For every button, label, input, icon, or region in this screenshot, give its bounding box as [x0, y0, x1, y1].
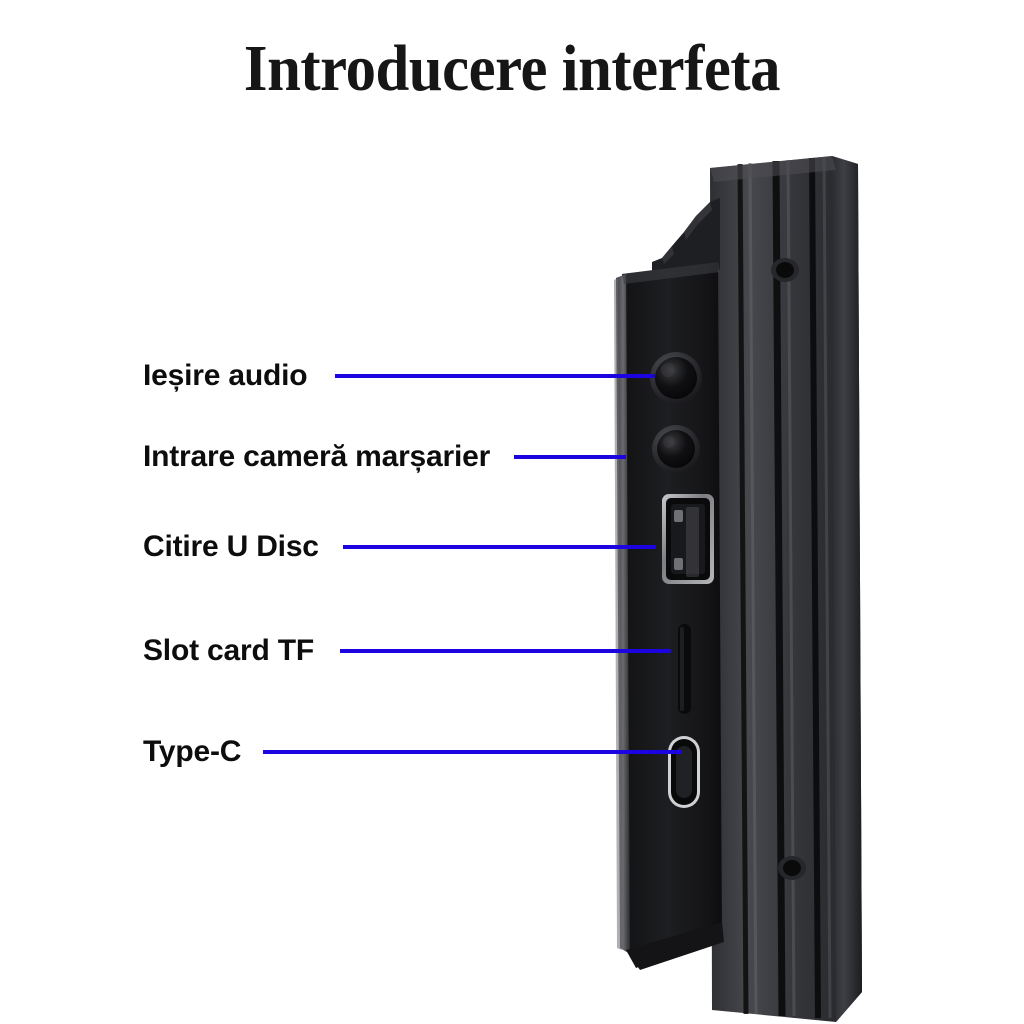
leader-line-tf-card-slot: [340, 649, 671, 653]
leader-line-type-c: [263, 750, 682, 754]
callout-label-tf-card-slot: Slot card TF: [143, 631, 314, 671]
leader-line-audio-out: [335, 374, 655, 378]
callout-tf-card-slot: Slot card TF: [143, 631, 671, 671]
audio-out-jack-port: [650, 352, 702, 404]
callout-label-u-disc-read: Citire U Disc: [143, 527, 319, 567]
device-back-ribs: [710, 156, 862, 1022]
leader-line-reverse-camera-in: [514, 455, 626, 459]
top-screw-hole: [771, 258, 799, 282]
reverse-camera-jack-port: [652, 425, 700, 473]
bottom-screw-hole: [778, 856, 806, 880]
usb-a-port: [662, 494, 714, 584]
diagram-page: Introducere interfeta: [0, 0, 1024, 1024]
page-title: Introducere interfeta: [41, 36, 983, 102]
callout-u-disc-read: Citire U Disc: [143, 527, 656, 567]
leader-line-u-disc-read: [343, 545, 656, 549]
callout-label-audio-out: Ieșire audio: [143, 356, 307, 396]
callout-reverse-camera-in: Intrare cameră marșarier: [143, 437, 626, 477]
callout-audio-out: Ieșire audio: [143, 356, 655, 396]
microsd-tf-slot-port: [678, 624, 691, 714]
callout-type-c: Type-C: [143, 732, 682, 772]
callout-label-reverse-camera-in: Intrare cameră marșarier: [143, 437, 490, 477]
device-illustration: [600, 150, 900, 1024]
callout-label-type-c: Type-C: [143, 732, 241, 772]
